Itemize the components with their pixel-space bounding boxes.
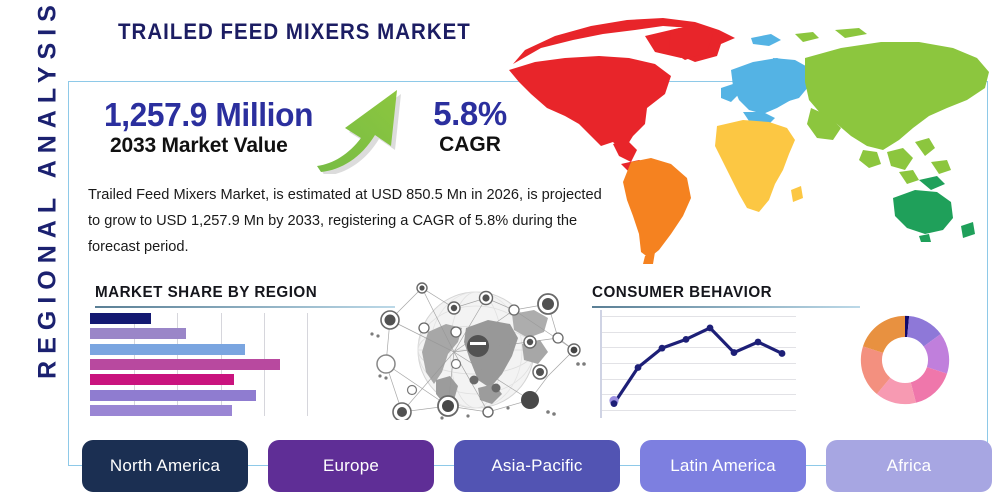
- region-donut-chart: [857, 312, 953, 408]
- section-divider: [95, 306, 395, 308]
- bar: [90, 390, 256, 401]
- market-value: 1,257.9 Million: [104, 96, 313, 134]
- bar: [90, 374, 234, 385]
- bar-chart-bars: [90, 313, 308, 416]
- market-value-caption: 2033 Market Value: [110, 134, 288, 158]
- region-chip-label: Latin America: [670, 456, 776, 476]
- page-title: TRAILED FEED MIXERS MARKET: [118, 19, 471, 45]
- region-chip-label: Asia-Pacific: [491, 456, 582, 476]
- bar: [90, 328, 186, 339]
- data-point-marker: [611, 400, 618, 407]
- consumer-behavior-title: CONSUMER BEHAVIOR: [592, 284, 847, 302]
- global-network-icon: [362, 280, 590, 420]
- world-map-icon: [495, 12, 995, 274]
- section-divider: [592, 306, 860, 308]
- bar: [90, 313, 151, 324]
- region-chip-list: North AmericaEuropeAsia-PacificLatin Ame…: [82, 440, 992, 492]
- bar-row: [90, 405, 308, 416]
- infographic-root: REGIONAL ANALYSIS TRAILED FEED MIXERS MA…: [0, 0, 1000, 500]
- line-chart-series: [600, 310, 796, 418]
- market-share-title: MARKET SHARE BY REGION: [95, 284, 380, 302]
- data-point-marker: [731, 349, 738, 356]
- data-point-marker: [659, 345, 666, 352]
- region-chip-north-america[interactable]: North America: [82, 440, 248, 492]
- bar: [90, 359, 280, 370]
- region-chip-label: Africa: [887, 456, 932, 476]
- vertical-section-label: REGIONAL ANALYSIS: [34, 0, 63, 389]
- data-point-marker: [683, 336, 690, 343]
- market-share-bar-chart: [90, 313, 308, 416]
- region-chip-africa[interactable]: Africa: [826, 440, 992, 492]
- region-chip-asia-pacific[interactable]: Asia-Pacific: [454, 440, 620, 492]
- bar-row: [90, 359, 308, 370]
- data-point-marker: [779, 350, 786, 357]
- bar-row: [90, 390, 308, 401]
- growth-arrow-icon: [313, 84, 409, 174]
- region-chip-latin-america[interactable]: Latin America: [640, 440, 806, 492]
- market-share-section-header: MARKET SHARE BY REGION: [95, 284, 395, 308]
- donut-segment: [863, 316, 905, 353]
- bar-row: [90, 374, 308, 385]
- donut-segment: [911, 367, 947, 403]
- region-chip-label: Europe: [323, 456, 379, 476]
- data-point-marker: [755, 339, 762, 346]
- bar-row: [90, 313, 308, 324]
- bar: [90, 405, 232, 416]
- consumer-behavior-line-chart: [600, 310, 796, 418]
- bar-row: [90, 344, 308, 355]
- data-point-marker: [635, 364, 642, 371]
- data-point-marker: [707, 325, 714, 332]
- consumer-behavior-section-header: CONSUMER BEHAVIOR: [592, 284, 860, 308]
- region-chip-label: North America: [110, 456, 220, 476]
- bar-row: [90, 328, 308, 339]
- region-chip-europe[interactable]: Europe: [268, 440, 434, 492]
- bar: [90, 344, 245, 355]
